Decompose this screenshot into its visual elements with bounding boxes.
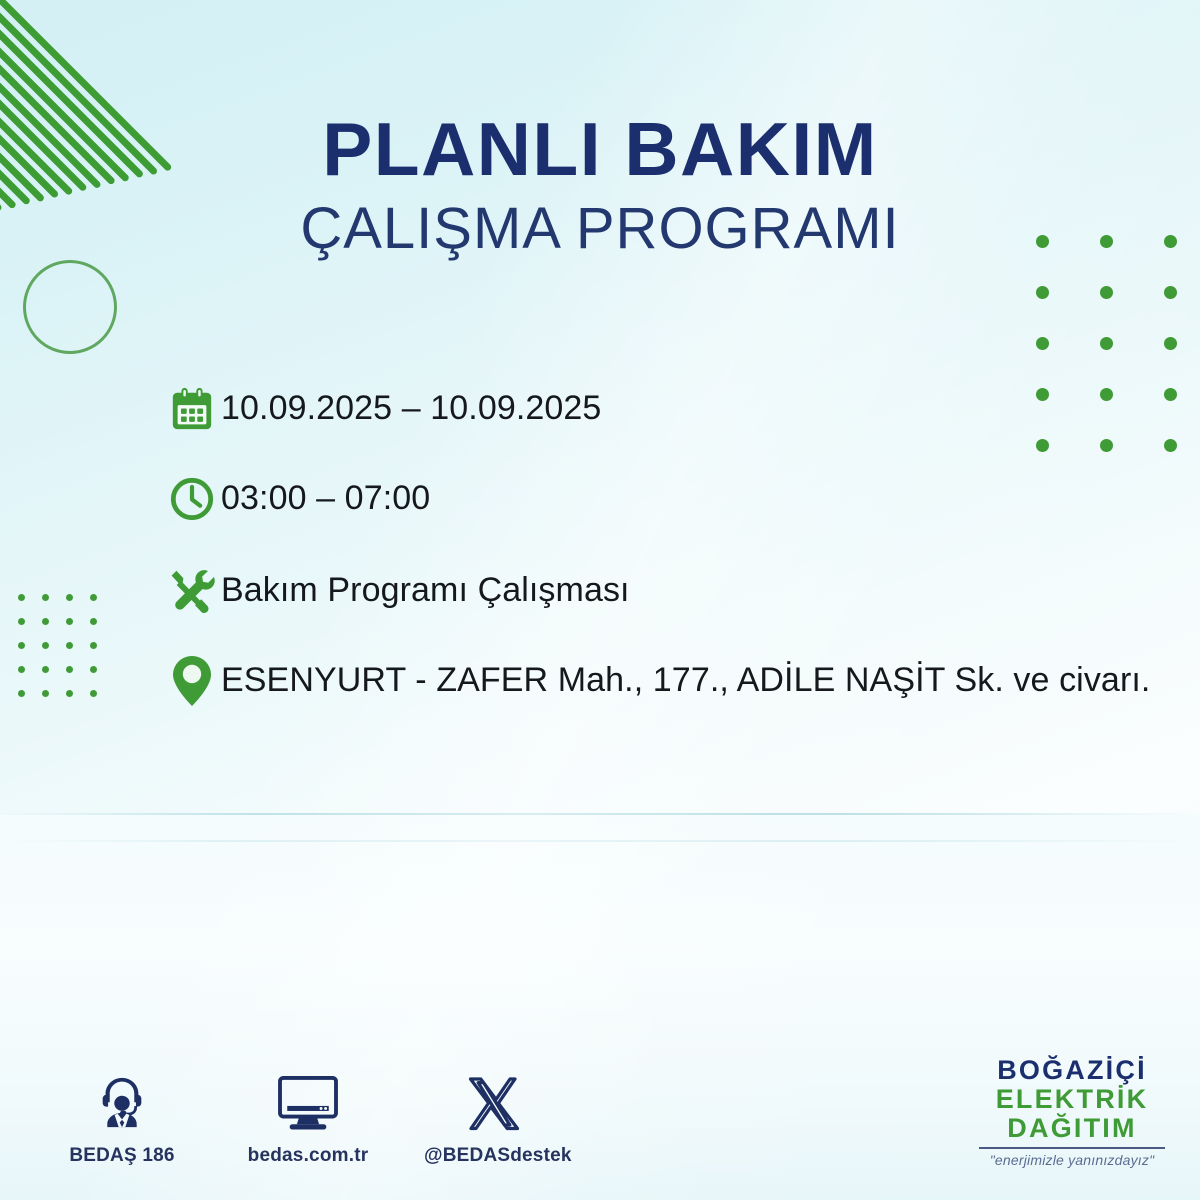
contact-phone[interactable]: BEDAŞ 186 xyxy=(52,1070,192,1167)
info-row-time: 03:00 – 07:00 xyxy=(163,468,1153,530)
dot xyxy=(42,666,49,673)
dot xyxy=(1036,286,1049,299)
dot xyxy=(18,690,25,697)
title-sub-text: ÇALIŞMA PROGRAMI xyxy=(0,195,1200,263)
info-row-time-label: 03:00 – 07:00 xyxy=(221,468,1153,523)
info-row-date-label: 10.09.2025 – 10.09.2025 xyxy=(221,378,1153,433)
dot xyxy=(66,594,73,601)
dot xyxy=(1100,286,1113,299)
dot xyxy=(66,666,73,673)
dot xyxy=(90,642,97,649)
contact-x-label: @BEDASdestek xyxy=(424,1145,564,1167)
dot xyxy=(42,618,49,625)
info-row-location: ESENYURT - ZAFER Mah., 177., ADİLE NAŞİT… xyxy=(163,650,1153,712)
brand-line-3: DAĞITIM xyxy=(966,1114,1178,1143)
background-band-upper xyxy=(0,813,1200,815)
dot xyxy=(18,618,25,625)
dot xyxy=(90,618,97,625)
circle-outline-decoration xyxy=(23,260,117,354)
dot xyxy=(42,690,49,697)
dot xyxy=(1036,337,1049,350)
dot xyxy=(1164,439,1177,452)
info-row-location-label: ESENYURT - ZAFER Mah., 177., ADİLE NAŞİT… xyxy=(221,650,1153,706)
brand-tagline: "enerjimizle yanınızdayız" xyxy=(966,1152,1178,1168)
dot xyxy=(42,594,49,601)
calendar-icon xyxy=(163,378,221,440)
dot xyxy=(90,690,97,697)
x-twitter-icon xyxy=(424,1070,564,1132)
footer-contacts: BEDAŞ 186 bedas.com.tr @B xyxy=(52,1070,564,1167)
dot xyxy=(90,594,97,601)
dot xyxy=(66,690,73,697)
dot xyxy=(90,666,97,673)
dot xyxy=(18,594,25,601)
dot-grid-left-decoration xyxy=(18,594,114,714)
monitor-icon xyxy=(238,1070,378,1132)
clock-icon xyxy=(163,468,221,530)
dot xyxy=(18,666,25,673)
brand-divider xyxy=(979,1147,1165,1149)
title-main-text: PLANLI BAKIM xyxy=(0,112,1200,187)
info-row-date: 10.09.2025 – 10.09.2025 xyxy=(163,378,1153,440)
dot xyxy=(1100,337,1113,350)
info-list: 10.09.2025 – 10.09.2025 03:00 – 07:00 xyxy=(163,378,1153,738)
dot xyxy=(66,618,73,625)
info-row-work-label: Bakım Programı Çalışması xyxy=(221,560,1153,615)
info-row-work: Bakım Programı Çalışması xyxy=(163,560,1153,622)
contact-website-label: bedas.com.tr xyxy=(238,1145,378,1167)
tools-icon xyxy=(163,560,221,622)
contact-phone-label: BEDAŞ 186 xyxy=(52,1145,192,1167)
dot xyxy=(1164,286,1177,299)
dot xyxy=(42,642,49,649)
background-band-lower xyxy=(0,840,1200,842)
support-agent-icon xyxy=(52,1070,192,1132)
location-pin-icon xyxy=(163,650,221,712)
brand-line-1: BOĞAZİÇİ xyxy=(966,1056,1178,1085)
page-title: PLANLI BAKIM ÇALIŞMA PROGRAMI xyxy=(0,112,1200,263)
contact-x[interactable]: @BEDASdestek xyxy=(424,1070,564,1167)
dot xyxy=(66,642,73,649)
dot xyxy=(1164,337,1177,350)
dot xyxy=(18,642,25,649)
brand-logo: BOĞAZİÇİ ELEKTRİK DAĞITIM "enerjimizle y… xyxy=(966,1056,1178,1168)
brand-line-2: ELEKTRİK xyxy=(966,1085,1178,1114)
contact-website[interactable]: bedas.com.tr xyxy=(238,1070,378,1167)
dot xyxy=(1164,388,1177,401)
poster-canvas: PLANLI BAKIM ÇALIŞMA PROGRAMI xyxy=(0,0,1200,1200)
